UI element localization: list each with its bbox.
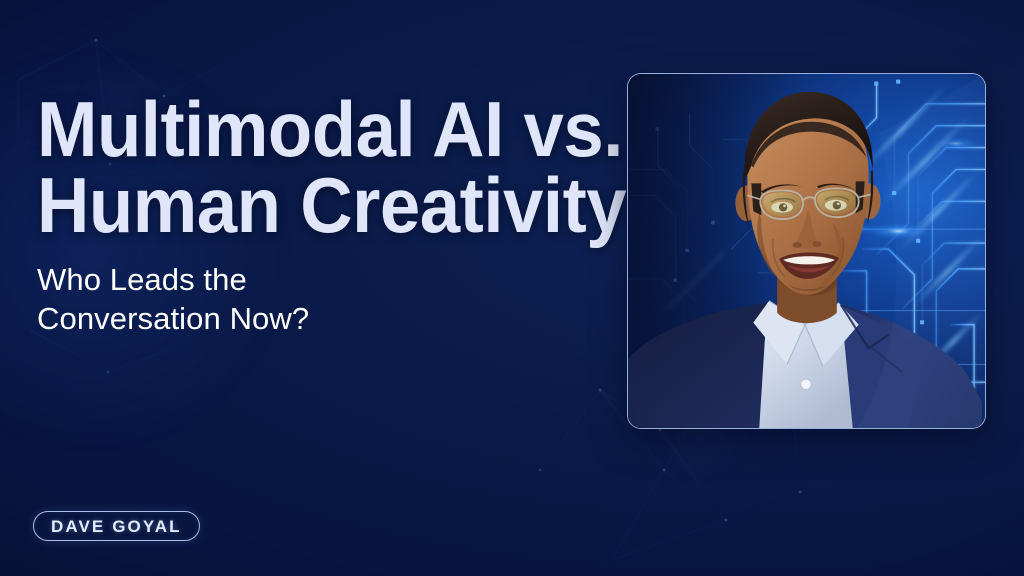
promo-banner: Multimodal AI vs. Human Creativity: Who … <box>0 0 1024 576</box>
headline-line-1: Multimodal AI vs. <box>37 92 572 168</box>
speaker-photo <box>628 74 985 428</box>
speaker-name-label: DAVE GOYAL <box>51 518 182 535</box>
page-title: Multimodal AI vs. Human Creativity: <box>37 92 572 243</box>
speaker-name-badge: DAVE GOYAL <box>33 511 200 541</box>
subhead-line-1: Who Leads the <box>37 261 612 299</box>
page-subtitle: Who Leads the Conversation Now? <box>37 261 612 338</box>
subhead-line-2: Conversation Now? <box>37 300 612 338</box>
headline-line-2: Human Creativity: <box>37 168 572 244</box>
speaker-portrait-card <box>627 73 986 429</box>
headline-block: Multimodal AI vs. Human Creativity: Who … <box>37 92 612 338</box>
